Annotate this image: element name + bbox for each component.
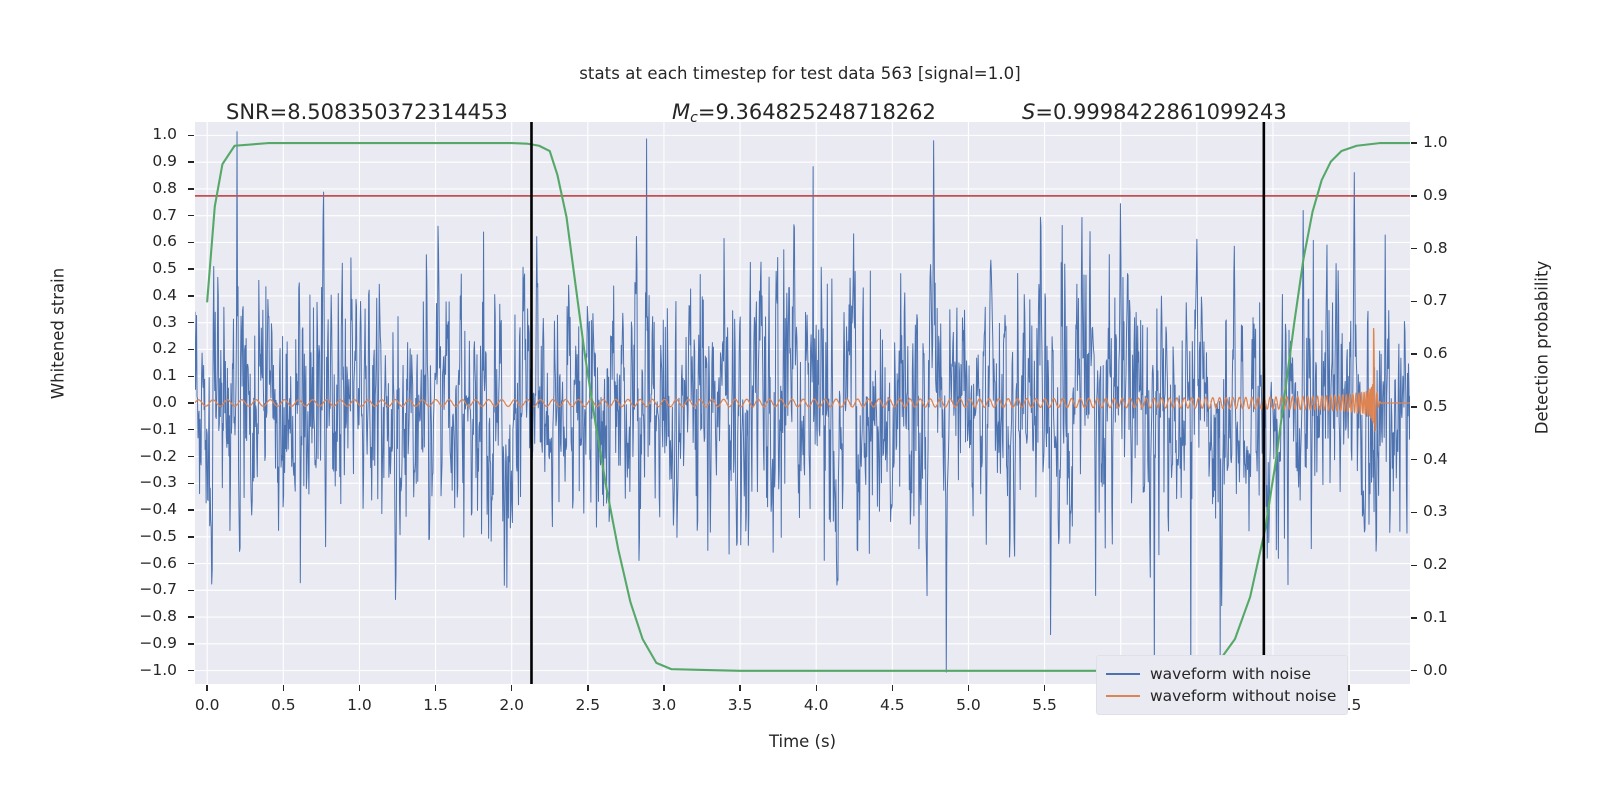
y-axis-label-left: Whitened strain <box>49 224 68 444</box>
y-tick-label-right: 0.7 <box>1423 291 1483 309</box>
x-tick-mark <box>663 685 664 691</box>
x-tick-label: 4.5 <box>862 696 922 714</box>
y-tick-mark-right <box>1411 301 1417 302</box>
legend-label-waveform-with-noise: waveform with noise <box>1150 665 1311 683</box>
y-tick-mark-left <box>188 429 194 430</box>
y-tick-label-left: 0.0 <box>117 393 177 411</box>
y-tick-mark-right <box>1411 353 1417 354</box>
y-tick-label-left: −1.0 <box>117 661 177 679</box>
y-tick-mark-left <box>188 402 194 403</box>
x-tick-mark <box>739 685 740 691</box>
y-tick-label-left: −0.3 <box>117 473 177 491</box>
y-tick-mark-left <box>188 215 194 216</box>
y-tick-label-left: 0.6 <box>117 232 177 250</box>
x-tick-label: 2.5 <box>558 696 618 714</box>
y-tick-label-right: 0.9 <box>1423 186 1483 204</box>
annotation-snr: SNR=8.508350372314453 <box>226 100 508 124</box>
y-tick-label-left: −0.7 <box>117 580 177 598</box>
y-tick-label-left: −0.2 <box>117 447 177 465</box>
x-tick-label: 3.5 <box>710 696 770 714</box>
y-tick-mark-right <box>1411 248 1417 249</box>
x-tick-mark <box>359 685 360 691</box>
plot-axes <box>195 122 1410 684</box>
y-tick-label-right: 0.1 <box>1423 608 1483 626</box>
x-tick-label: 4.0 <box>786 696 846 714</box>
y-tick-label-left: 0.1 <box>117 366 177 384</box>
y-tick-label-left: 0.2 <box>117 339 177 357</box>
legend-item: waveform with noise <box>1106 663 1336 685</box>
y-tick-mark-left <box>188 135 194 136</box>
y-tick-label-left: 1.0 <box>117 125 177 143</box>
y-tick-label-left: −0.9 <box>117 634 177 652</box>
y-tick-mark-right <box>1411 512 1417 513</box>
y-tick-label-left: −0.6 <box>117 554 177 572</box>
y-tick-label-left: 0.5 <box>117 259 177 277</box>
y-tick-label-left: −0.1 <box>117 420 177 438</box>
y-tick-label-right: 0.4 <box>1423 450 1483 468</box>
legend-swatch-waveform-without-noise <box>1106 695 1140 697</box>
y-tick-mark-right <box>1411 617 1417 618</box>
x-tick-mark <box>587 685 588 691</box>
legend-label-waveform-without-noise: waveform without noise <box>1150 687 1336 705</box>
y-tick-label-left: 0.7 <box>117 206 177 224</box>
y-tick-mark-left <box>188 295 194 296</box>
page-title: stats at each timestep for test data 563… <box>0 64 1600 83</box>
legend-swatch-waveform-with-noise <box>1106 673 1140 675</box>
y-tick-mark-left <box>188 322 194 323</box>
x-tick-mark <box>511 685 512 691</box>
x-tick-mark <box>283 685 284 691</box>
annotation-chirp-mass-label: M <box>672 100 690 124</box>
annotation-chirp-mass-value: 9.364825248718262 <box>715 100 935 124</box>
y-tick-label-left: 0.4 <box>117 286 177 304</box>
y-tick-mark-right <box>1411 565 1417 566</box>
x-tick-label: 3.0 <box>634 696 694 714</box>
y-tick-mark-left <box>188 670 194 671</box>
x-tick-label: 0.5 <box>253 696 313 714</box>
y-tick-mark-left <box>188 483 194 484</box>
x-tick-label: 2.0 <box>482 696 542 714</box>
annotation-chirp-mass-subscript: c <box>690 110 698 126</box>
x-tick-mark <box>1348 685 1349 691</box>
y-tick-label-right: 1.0 <box>1423 133 1483 151</box>
y-tick-label-left: 0.9 <box>117 152 177 170</box>
y-tick-label-right: 0.5 <box>1423 397 1483 415</box>
x-tick-mark <box>968 685 969 691</box>
y-tick-label-left: 0.3 <box>117 313 177 331</box>
y-tick-label-right: 0.0 <box>1423 661 1483 679</box>
y-tick-label-right: 0.8 <box>1423 239 1483 257</box>
y-axis-label-right: Detection probability <box>1533 238 1552 458</box>
annotation-snr-value: 8.508350372314453 <box>287 100 507 124</box>
y-tick-mark-right <box>1411 670 1417 671</box>
x-tick-label: 1.0 <box>329 696 389 714</box>
y-tick-mark-left <box>188 268 194 269</box>
x-tick-mark <box>435 685 436 691</box>
y-tick-mark-right <box>1411 195 1417 196</box>
annotation-score-label: S <box>1022 100 1035 124</box>
x-tick-mark <box>892 685 893 691</box>
y-tick-mark-left <box>188 616 194 617</box>
y-tick-mark-right <box>1411 406 1417 407</box>
y-tick-mark-left <box>188 349 194 350</box>
annotation-score-value: 0.9998422861099243 <box>1053 100 1287 124</box>
x-axis-label: Time (s) <box>195 732 1410 751</box>
y-tick-mark-right <box>1411 142 1417 143</box>
x-tick-mark <box>206 685 207 691</box>
annotation-chirp-mass: Mc=9.364825248718262 <box>672 100 936 126</box>
y-tick-label-right: 0.6 <box>1423 344 1483 362</box>
y-tick-label-right: 0.2 <box>1423 555 1483 573</box>
y-tick-mark-left <box>188 242 194 243</box>
y-tick-label-left: −0.5 <box>117 527 177 545</box>
annotation-score: S=0.9998422861099243 <box>1022 100 1287 124</box>
x-tick-mark <box>1044 685 1045 691</box>
y-tick-mark-left <box>188 376 194 377</box>
x-tick-label: 1.5 <box>406 696 466 714</box>
y-tick-mark-right <box>1411 459 1417 460</box>
annotation-score-eq: = <box>1035 100 1053 124</box>
y-tick-label-left: −0.8 <box>117 607 177 625</box>
y-tick-mark-left <box>188 643 194 644</box>
y-tick-label-right: 0.3 <box>1423 502 1483 520</box>
legend-item: waveform without noise <box>1106 685 1336 707</box>
y-tick-mark-left <box>188 456 194 457</box>
figure-canvas: stats at each timestep for test data 563… <box>0 0 1600 800</box>
y-tick-mark-left <box>188 161 194 162</box>
y-tick-mark-left <box>188 188 194 189</box>
y-tick-mark-left <box>188 563 194 564</box>
annotation-snr-label: SNR= <box>226 100 287 124</box>
x-tick-label: 0.0 <box>177 696 237 714</box>
x-tick-label: 5.0 <box>938 696 998 714</box>
x-tick-mark <box>816 685 817 691</box>
annotation-chirp-mass-eq: = <box>698 100 716 124</box>
y-tick-mark-left <box>188 509 194 510</box>
y-tick-mark-left <box>188 590 194 591</box>
y-tick-label-left: −0.4 <box>117 500 177 518</box>
y-tick-mark-left <box>188 536 194 537</box>
y-tick-label-left: 0.8 <box>117 179 177 197</box>
plot-svg <box>195 122 1410 684</box>
legend: waveform with noise waveform without noi… <box>1096 655 1348 715</box>
x-tick-label: 5.5 <box>1015 696 1075 714</box>
